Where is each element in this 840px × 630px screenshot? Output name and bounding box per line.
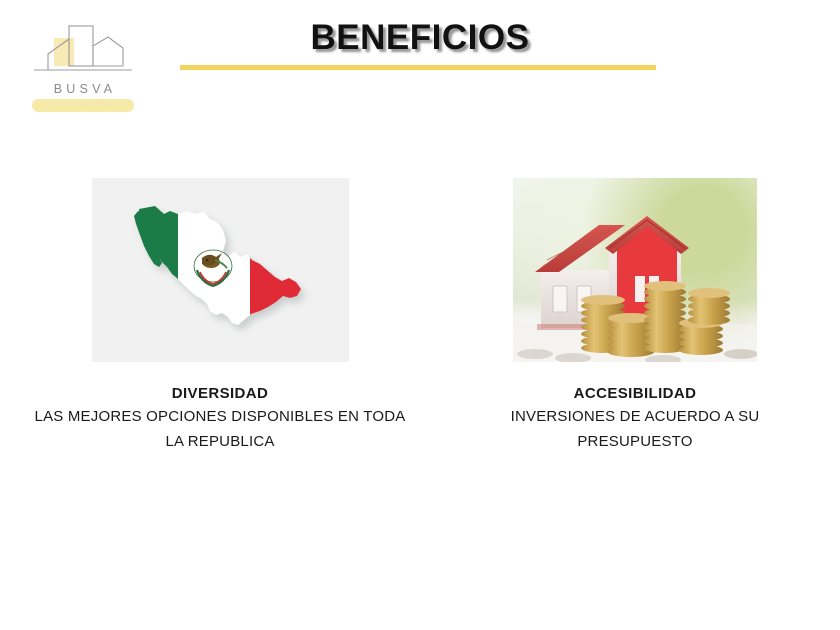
benefit-description: INVERSIONES DE ACUERDO A SU PRESUPUESTO — [452, 404, 818, 454]
benefit-description: LAS MEJORES OPCIONES DISPONIBLES EN TODA… — [22, 404, 418, 454]
benefit-title: DIVERSIDAD — [22, 384, 418, 404]
benefit-title: ACCESIBILIDAD — [452, 384, 818, 404]
logo-subtitle-pill: INMOBILIARIA — [32, 99, 134, 112]
busva-logo: BUSVA INMOBILIARIA — [28, 24, 138, 116]
benefit-column-accesibilidad: ACCESIBILIDAD INVERSIONES DE ACUERDO A S… — [452, 178, 818, 454]
slide-beneficios: BUSVA INMOBILIARIA BENEFICIOS — [0, 0, 840, 630]
benefit-caption-accesibilidad: ACCESIBILIDAD INVERSIONES DE ACUERDO A S… — [452, 384, 818, 454]
logo-subtitle: INMOBILIARIA — [32, 99, 134, 112]
logo-wordmark: BUSVA — [28, 82, 138, 96]
mexico-map-flag-image — [92, 178, 349, 362]
benefit-column-diversidad: DIVERSIDAD LAS MEJORES OPCIONES DISPONIB… — [22, 178, 418, 454]
house-and-coins-image — [513, 178, 757, 362]
benefit-caption-diversidad: DIVERSIDAD LAS MEJORES OPCIONES DISPONIB… — [22, 384, 418, 454]
page-title: BENEFICIOS — [180, 18, 660, 58]
logo-building-mark-icon — [28, 24, 138, 82]
title-underline-rule — [180, 65, 656, 70]
